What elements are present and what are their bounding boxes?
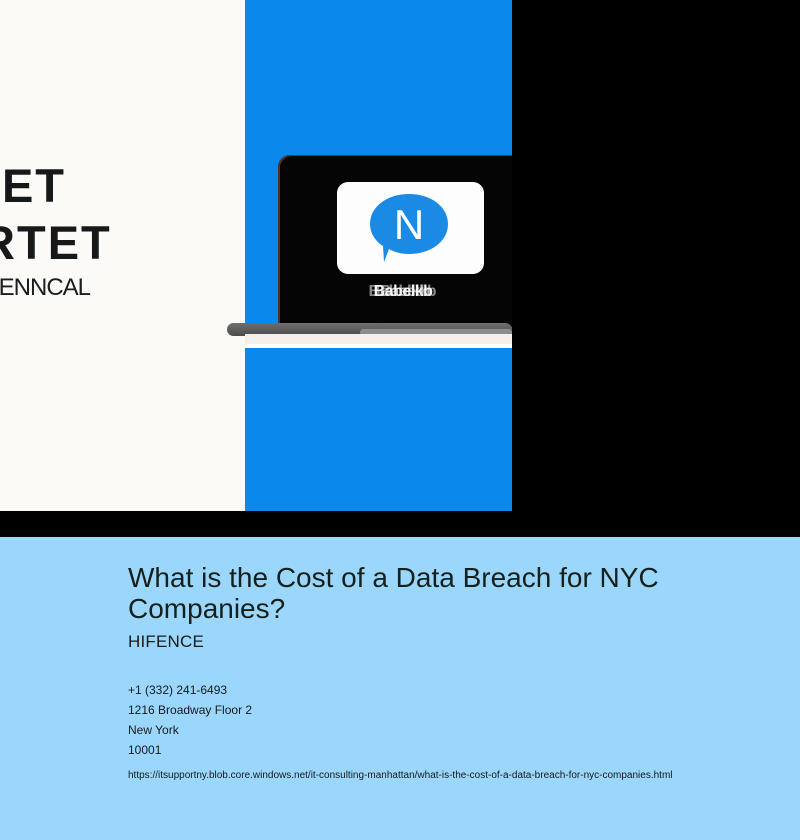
- letterbox-bar: [0, 511, 800, 537]
- article-info-panel: What is the Cost of a Data Breach for NY…: [0, 537, 800, 840]
- poster-headline: NET IRTET CNENNCAL: [0, 158, 256, 304]
- poster-headline-line-2: IRTET: [0, 214, 256, 272]
- app-logo-card: N: [337, 182, 484, 274]
- laptop-screen-caption: Babelkb Babelkb Babelkb: [280, 283, 512, 301]
- poster-headline-line-3: CNENNCAL: [0, 272, 256, 304]
- laptop-screen: N Babelkb Babelkb Babelkb: [280, 158, 512, 324]
- contact-city: New York: [128, 720, 768, 740]
- caption-ghost-layer-2: Babelkb: [291, 283, 512, 301]
- speech-bubble-icon: N: [368, 192, 450, 264]
- contact-street: 1216 Broadway Floor 2: [128, 700, 768, 720]
- article-info-inner: What is the Cost of a Data Breach for NY…: [128, 562, 768, 783]
- poster-headline-line-1: NET: [0, 158, 256, 214]
- brand-name: HIFENCE: [128, 632, 768, 652]
- page-title: What is the Cost of a Data Breach for NY…: [128, 562, 688, 624]
- illustration-canvas: NET IRTET CNENNCAL N B: [0, 0, 512, 511]
- app-logo-letter: N: [368, 192, 450, 258]
- laptop-illustration: N Babelkb Babelkb Babelkb: [278, 155, 512, 327]
- contact-zip: 10001: [128, 740, 768, 760]
- hero-image-banner: NET IRTET CNENNCAL N B: [0, 0, 800, 537]
- desk-surface-highlight: [245, 344, 512, 348]
- source-url-link[interactable]: https://itsupportny.blob.core.windows.ne…: [128, 769, 768, 783]
- laptop-lid: N Babelkb Babelkb Babelkb: [278, 155, 512, 327]
- contact-phone[interactable]: +1 (332) 241-6493: [128, 680, 768, 700]
- contact-block: +1 (332) 241-6493 1216 Broadway Floor 2 …: [128, 680, 768, 760]
